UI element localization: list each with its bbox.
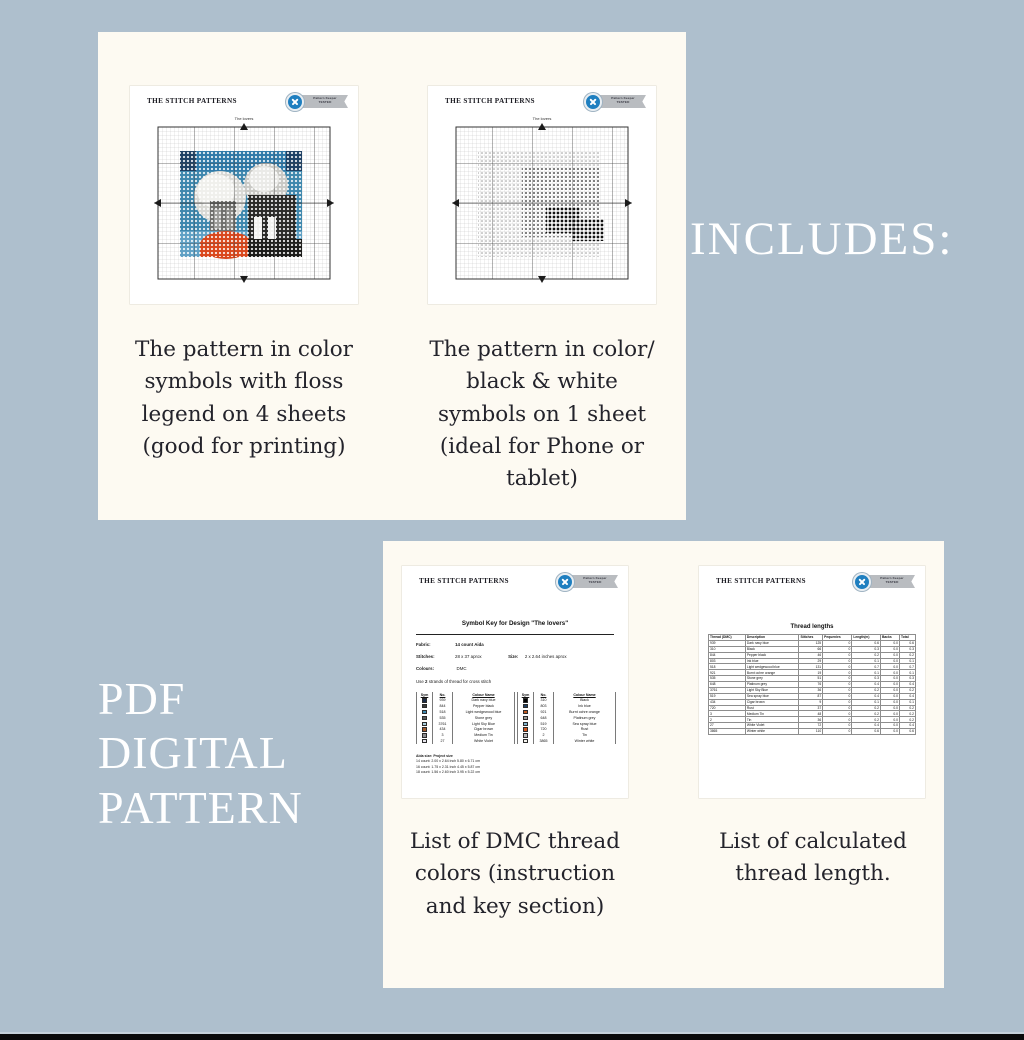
chart-title: The lovers — [428, 116, 656, 121]
bw-stitch-grid — [452, 123, 632, 283]
badge-cross-icon — [584, 93, 602, 111]
symbol-key-table: Sym No. Colour Name Sym No. Colour Name … — [416, 692, 616, 744]
color-stitch-grid — [154, 123, 334, 283]
sheet-title: THE STITCH PATTERNS — [147, 97, 237, 105]
dmc-number: 27 — [433, 738, 453, 744]
badge-label: Pattern Keeper TESTED — [604, 96, 642, 104]
symbol-swatch — [417, 738, 433, 744]
sheet-title: THE STITCH PATTERNS — [419, 577, 509, 585]
caption-bw-symbols: The pattern in color/ black & white symb… — [420, 334, 664, 495]
symbol-key-heading: Symbol Key for Design "The lovers" — [402, 620, 628, 627]
badge-label: Pattern Keeper TESTED — [873, 576, 911, 584]
badge-cross-icon — [556, 573, 574, 591]
pdf-line-3: PATTERN — [98, 781, 303, 835]
table-row: 27White Violet3865Winter white — [417, 738, 616, 744]
preview-sheet-bw-symbols[interactable]: THE STITCH PATTERNS Pattern Keeper TESTE… — [428, 86, 656, 304]
pattern-keeper-badge: Pattern Keeper TESTED — [556, 573, 618, 591]
badge-label: Pattern Keeper TESTED — [306, 96, 344, 104]
chart-title: The lovers — [130, 116, 358, 121]
thread-pequenies: 0 — [823, 729, 852, 735]
bottom-strip — [0, 1032, 1024, 1040]
symbol-swatch — [518, 738, 534, 744]
includes-heading: INCLUDES: — [690, 212, 953, 267]
pattern-keeper-badge: Pattern Keeper TESTED — [853, 573, 915, 591]
badge-cross-icon — [853, 573, 871, 591]
spec-fabric: Fabric: 14 count Aida — [416, 642, 484, 647]
divider — [416, 634, 614, 635]
sheet-title: THE STITCH PATTERNS — [716, 577, 806, 585]
sheet-title: THE STITCH PATTERNS — [445, 97, 535, 105]
pattern-keeper-badge: Pattern Keeper TESTED — [286, 93, 348, 111]
thread-stitches: 110 — [799, 729, 823, 735]
thread-total: 0.6 — [900, 729, 916, 735]
badge-label: Pattern Keeper TESTED — [576, 576, 614, 584]
colour-name: Winter white — [554, 738, 616, 744]
spec-colours: Colours: DMC — [416, 666, 467, 671]
caption-color-symbols: The pattern in color symbols with floss … — [130, 334, 358, 463]
caption-dmc-list: List of DMC thread colors (instruction a… — [404, 826, 626, 923]
badge-cross-icon — [286, 93, 304, 111]
caption-thread-length: List of calculated thread length. — [700, 826, 926, 891]
thread-length: 0.6 — [852, 729, 881, 735]
thread-description: Winter white — [745, 729, 799, 735]
thread-lengths-table: Thread (DMC)DescriptionStitchesPequenies… — [708, 634, 916, 735]
preview-sheet-color-symbols[interactable]: THE STITCH PATTERNS Pattern Keeper TESTE… — [130, 86, 358, 304]
thread-backs: 0.0 — [880, 729, 899, 735]
spec-stitches: Stitches: 28 x 37 aprox Size: 2 x 2.64 i… — [416, 654, 567, 659]
pattern-keeper-badge: Pattern Keeper TESTED — [584, 93, 646, 111]
dmc-number: 3865 — [534, 738, 554, 744]
table-row: 3865Winter white11000.60.00.6 — [709, 729, 916, 735]
colour-name: White Violet — [453, 738, 515, 744]
pdf-line-1: PDF — [98, 672, 303, 726]
strands-note: Use 2 strands of thread for cross stitch — [416, 679, 491, 684]
thread-dmc: 3865 — [709, 729, 746, 735]
pdf-digital-pattern-heading: PDF DIGITAL PATTERN — [98, 672, 303, 835]
aida-size-note: Aida size: Project size 14 count: 2.00 x… — [416, 754, 480, 776]
thread-lengths-title: Thread lengths — [699, 624, 925, 630]
preview-sheet-thread-lengths[interactable]: THE STITCH PATTERNS Pattern Keeper TESTE… — [699, 566, 925, 798]
pdf-line-2: DIGITAL — [98, 726, 303, 780]
preview-sheet-symbol-key[interactable]: THE STITCH PATTERNS Pattern Keeper TESTE… — [402, 566, 628, 798]
